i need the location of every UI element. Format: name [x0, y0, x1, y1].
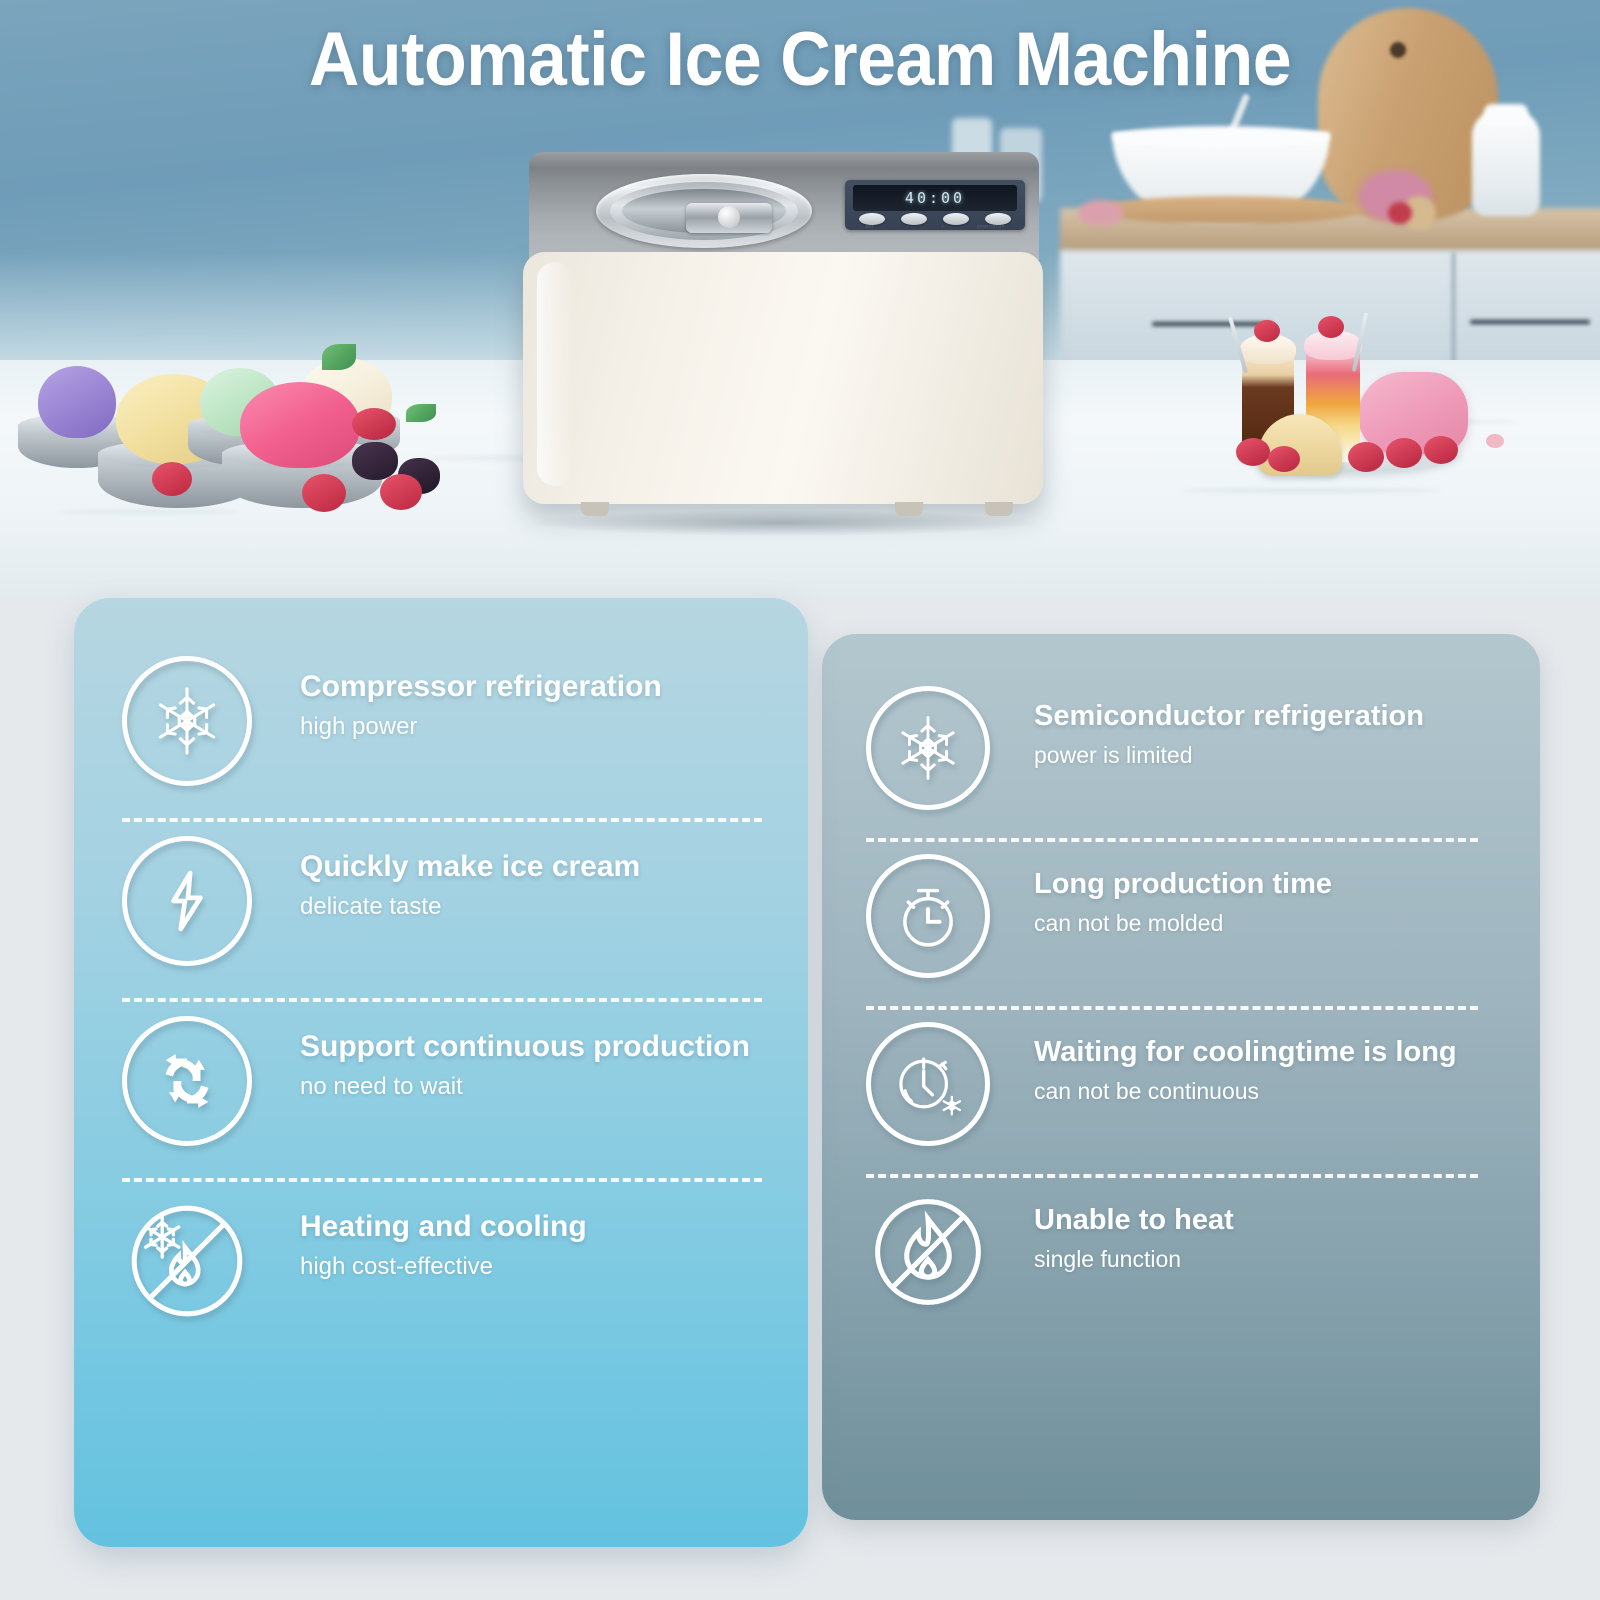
- feature-divider: [122, 1178, 762, 1182]
- set-button-label: SET: [865, 224, 874, 229]
- mint-leaf: [322, 344, 356, 370]
- feature-title: Long production time: [1034, 868, 1332, 901]
- ice-cream-machine: 40:00 SET - + START/STOP: [523, 152, 1043, 532]
- feature-divider: [866, 1174, 1478, 1178]
- machine-lid-inner: [622, 189, 786, 233]
- crumb: [1486, 434, 1504, 448]
- machine-top-plate: 40:00 SET - + START/STOP: [529, 152, 1039, 260]
- white-vase-neck: [1484, 104, 1528, 126]
- feature-title: Heating and cooling: [300, 1210, 587, 1244]
- continuous-rotation-icon: [122, 1016, 252, 1146]
- plus-button-label: +: [941, 224, 944, 229]
- feature-row: Support continuous production no need to…: [122, 1002, 760, 1178]
- machine-lid-ring: [610, 182, 798, 240]
- ice-cream-scoop-pink: [240, 382, 360, 468]
- feature-divider: [866, 838, 1478, 842]
- snowflake-flame-slash-icon: [122, 1196, 252, 1326]
- snowflake-icon: [866, 686, 990, 810]
- feature-row: Heating and cooling high cost-effective: [122, 1182, 760, 1358]
- pink-macaron-blur: [1078, 200, 1124, 226]
- machine-lid: [596, 174, 812, 248]
- raspberry-garnish: [1318, 316, 1344, 338]
- machine-foot: [581, 502, 609, 516]
- raspberry: [1424, 436, 1458, 464]
- comparison-panel-compressor: Compressor refrigeration high power Quic…: [74, 598, 808, 1547]
- feature-subtitle: power is limited: [1034, 742, 1424, 769]
- machine-display-value: 40:00: [853, 189, 1017, 207]
- feature-title: Unable to heat: [1034, 1204, 1234, 1237]
- feature-divider: [866, 1006, 1478, 1010]
- feature-subtitle: can not be molded: [1034, 910, 1332, 937]
- machine-body: [523, 252, 1043, 504]
- ice-cream-scoop-purple: [38, 366, 116, 438]
- machine-display: 40:00: [853, 185, 1017, 211]
- snowflake-icon: [122, 656, 252, 786]
- feature-subtitle: delicate taste: [300, 893, 640, 921]
- raspberry: [1236, 438, 1270, 466]
- machine-foot: [895, 502, 923, 516]
- timer-snowflake-icon: [866, 1022, 990, 1146]
- raspberry: [1268, 446, 1300, 472]
- feature-title: Compressor refrigeration: [300, 670, 662, 704]
- raspberry: [352, 408, 396, 440]
- feature-row: Unable to heat single function: [866, 1178, 1496, 1342]
- feature-row: Compressor refrigeration high power: [122, 642, 760, 818]
- start-stop-button-label: START/STOP: [977, 224, 1005, 229]
- feature-subtitle: no need to wait: [300, 1073, 750, 1101]
- raspberry-garnish: [1254, 320, 1280, 342]
- feature-divider: [122, 818, 762, 822]
- raspberry: [152, 462, 192, 496]
- feature-title: Semiconductor refrigeration: [1034, 700, 1424, 733]
- wooden-tray: [1092, 196, 1364, 224]
- page-title: Automatic Ice Cream Machine: [64, 16, 1536, 103]
- machine-shadow: [533, 510, 1033, 536]
- feature-row: Quickly make ice cream delicate taste: [122, 822, 760, 998]
- cabinet-handle: [1470, 320, 1590, 324]
- feature-subtitle: high power: [300, 713, 662, 741]
- minus-button-label: -: [907, 224, 909, 229]
- feature-row: Waiting for coolingtime is long can not …: [866, 1010, 1496, 1174]
- feature-subtitle: high cost-effective: [300, 1253, 587, 1281]
- feature-title: Support continuous production: [300, 1030, 750, 1064]
- machine-lid-knob: [718, 206, 740, 228]
- machine-control-panel[interactable]: 40:00 SET - + START/STOP: [845, 180, 1025, 230]
- mint-leaf: [406, 404, 436, 422]
- cabinet-handle: [1152, 322, 1272, 326]
- raspberry: [380, 474, 422, 510]
- machine-foot: [985, 502, 1013, 516]
- feature-row: Long production time can not be molded: [866, 842, 1496, 1006]
- flame-slash-icon: [866, 1190, 990, 1314]
- feature-row: Semiconductor refrigeration power is lim…: [866, 674, 1496, 838]
- feature-divider: [122, 998, 762, 1002]
- blackberry: [352, 442, 398, 480]
- comparison-panel-semiconductor: Semiconductor refrigeration power is lim…: [822, 634, 1540, 1520]
- berry-blur: [1388, 202, 1412, 224]
- feature-subtitle: single function: [1034, 1246, 1234, 1273]
- stopwatch-icon: [866, 854, 990, 978]
- raspberry: [1386, 438, 1422, 468]
- raspberry: [302, 474, 346, 512]
- feature-title: Waiting for coolingtime is long: [1034, 1036, 1457, 1069]
- feature-subtitle: can not be continuous: [1034, 1078, 1457, 1105]
- feature-title: Quickly make ice cream: [300, 850, 640, 884]
- lightning-bolt-icon: [122, 836, 252, 966]
- raspberry: [1348, 442, 1384, 472]
- white-bowl-rim: [1112, 126, 1330, 148]
